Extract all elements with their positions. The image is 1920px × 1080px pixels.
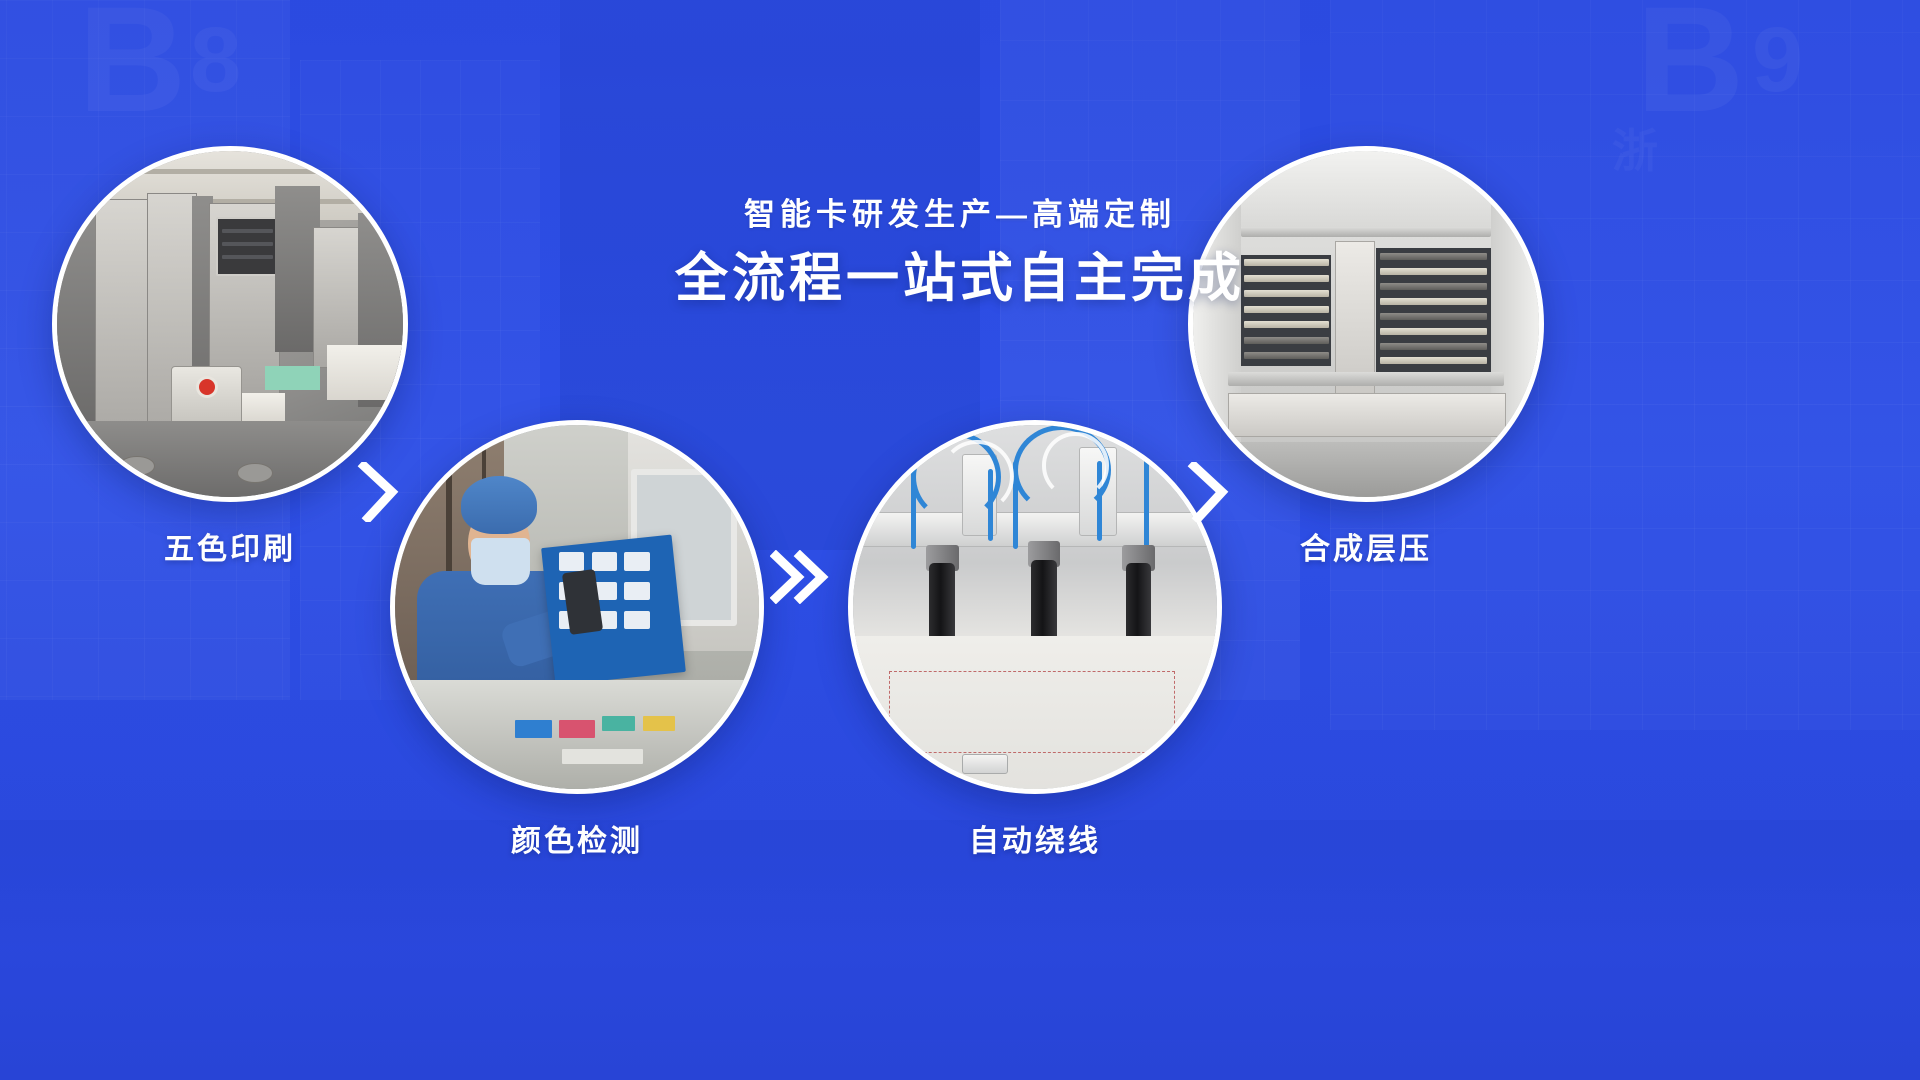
headings-block: 智能卡研发生产—高端定制 全流程一站式自主完成 — [0, 196, 1920, 310]
process-step-2-photo-circle[interactable] — [390, 420, 764, 794]
banner-stage: B 8 B 9 浙 智能卡研发生产—高端定制 全流程一站式自主完成 — [0, 0, 1920, 1080]
process-step-2[interactable]: 颜色检测 — [390, 420, 764, 860]
process-step-3-photo-circle[interactable] — [848, 420, 1222, 794]
double-chevron-right-icon — [770, 550, 830, 604]
arrow-step2-to-step3 — [770, 550, 830, 604]
colour-inspection-operator-photo — [395, 425, 759, 789]
automatic-coil-winding-machine-photo — [853, 425, 1217, 789]
chevron-right-icon — [1186, 462, 1232, 522]
arrow-step1-to-step2 — [356, 462, 402, 522]
arrow-step3-to-step4 — [1186, 462, 1232, 522]
banner-subtitle: 智能卡研发生产—高端定制 — [0, 196, 1920, 233]
process-step-3-label: 自动绕线 — [848, 816, 1222, 860]
banner-title: 全流程一站式自主完成 — [0, 249, 1920, 310]
process-step-4-label: 合成层压 — [1188, 524, 1544, 568]
process-step-2-label: 颜色检测 — [390, 816, 764, 860]
chevron-right-icon — [356, 462, 402, 522]
process-step-3[interactable]: 自动绕线 — [848, 420, 1222, 860]
process-step-1-label: 五色印刷 — [52, 524, 408, 568]
